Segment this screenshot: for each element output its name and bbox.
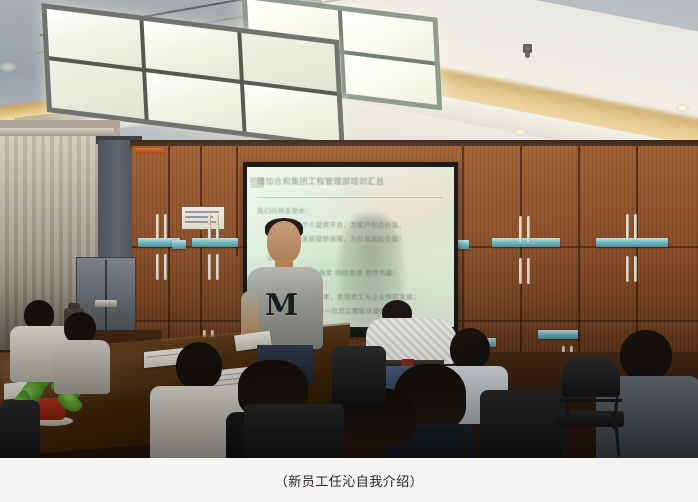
- cabinet-handle[interactable]: [156, 254, 159, 280]
- ceiling-light-panel: [244, 84, 340, 143]
- cabinet-handle[interactable]: [216, 214, 219, 240]
- person-head: [176, 342, 222, 390]
- blinds-headrail: [0, 128, 114, 136]
- cabinet-handle[interactable]: [626, 256, 629, 282]
- safe-lock-icon: [95, 300, 117, 307]
- cabinet-door-seam: [168, 146, 170, 360]
- cabinet-handle[interactable]: [527, 216, 530, 242]
- cabinet-handle[interactable]: [164, 254, 167, 280]
- page-root: 增加合和集团工程管理部培训汇总 我们的神圣使命： 为个人提供平台，为客户创造价值…: [0, 0, 698, 502]
- ceiling-light-panel: [241, 33, 337, 92]
- ceiling-light-panel: [47, 9, 143, 68]
- cabinet-accent-inlay: [492, 238, 560, 247]
- cabinet-handle[interactable]: [626, 214, 629, 240]
- cabinet-accent-inlay: [538, 330, 578, 339]
- cabinet-handle[interactable]: [164, 214, 167, 240]
- cabinet-handle[interactable]: [216, 254, 219, 280]
- seated-person: [54, 312, 108, 382]
- ceiling-light-panel: [344, 54, 437, 105]
- cabinet-door-seam: [636, 146, 638, 360]
- cabinet-handle[interactable]: [519, 258, 522, 284]
- cabinet-door-seam: [578, 146, 580, 360]
- wall-label-strip: [136, 148, 164, 154]
- cabinet-accent-inlay: [172, 240, 186, 249]
- ceiling-light-panel: [342, 11, 435, 62]
- cabinet-accent-inlay: [192, 238, 238, 247]
- folding-chair-back: [562, 355, 620, 397]
- cabinet-handle[interactable]: [634, 214, 637, 240]
- caption-bar: （新员工任沁自我介绍）: [0, 458, 698, 502]
- meeting-room-photo: 增加合和集团工程管理部培训汇总 我们的神圣使命： 为个人提供平台，为客户创造价值…: [0, 0, 698, 458]
- person-torso: [54, 340, 110, 394]
- cabinet-handle[interactable]: [208, 254, 211, 280]
- cabinet-handle[interactable]: [156, 214, 159, 240]
- office-chair: [332, 346, 386, 404]
- presenter-shirt-logo: M: [265, 291, 293, 325]
- ceiling-light-panel: [49, 60, 145, 119]
- office-chair: [244, 404, 344, 458]
- cabinet-handle[interactable]: [519, 216, 522, 242]
- office-chair: [0, 400, 40, 458]
- recessed-downlight-icon: [514, 128, 527, 136]
- ceiling-light-panel: [144, 21, 240, 80]
- cabinet-handle[interactable]: [634, 256, 637, 282]
- caption-text: （新员工任沁自我介绍）: [275, 471, 424, 490]
- person-head: [620, 330, 672, 380]
- cabinet-accent-inlay: [596, 238, 668, 247]
- presenter-head: [267, 221, 301, 263]
- sprinkler-head-icon: [523, 44, 532, 53]
- presenter-person: M: [239, 221, 331, 381]
- office-chair: [480, 390, 566, 458]
- cabinet-door-seam: [520, 146, 522, 360]
- ceiling-speaker-icon: [0, 62, 16, 72]
- recessed-downlight-icon: [676, 104, 689, 112]
- folding-chair: [556, 355, 626, 455]
- cabinet-handle[interactable]: [527, 258, 530, 284]
- cabinet-door-seam: [200, 146, 202, 360]
- cabinet-handle[interactable]: [208, 214, 211, 240]
- ceiling-light-panel: [146, 72, 242, 131]
